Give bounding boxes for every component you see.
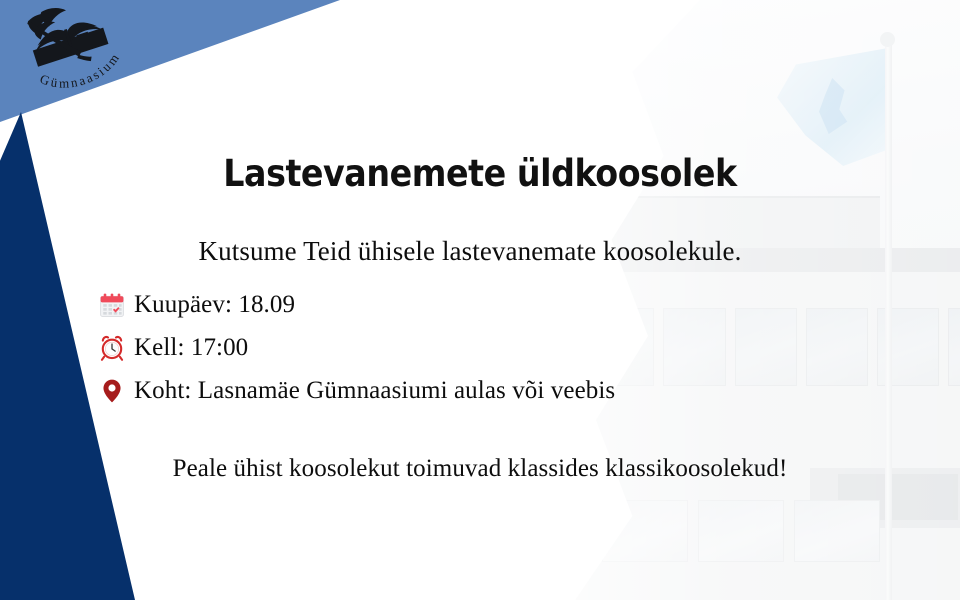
calendar-icon [96,289,128,321]
details-list: Kuupäev: 18.09 Kell: 17:00 [96,283,856,412]
lead-paragraph: Kutsume Teid ühisele lastevanemate kooso… [0,236,940,267]
detail-text-time: Kell: 17:00 [134,334,248,362]
detail-row-time: Kell: 17:00 [96,326,856,369]
alarm-clock-icon-glyph [98,334,126,362]
footnote-text: Peale ühist koosolekut toimuvad klasside… [0,455,960,483]
detail-row-date: Kuupäev: 18.09 [96,283,856,326]
slide-canvas: Gümnaasium Lastevanemete üldkoosolek Kut… [0,0,960,600]
location-pin-icon [96,375,128,407]
detail-row-location: Koht: Lasnamäe Gümnaasiumi aulas või vee… [96,369,856,412]
detail-text-location: Koht: Lasnamäe Gümnaasiumi aulas või vee… [134,377,615,405]
location-pin-icon-glyph [99,378,125,404]
calendar-icon-glyph [98,291,126,319]
slide-content: Lastevanemete üldkoosolek Kutsume Teid ü… [0,0,960,600]
page-title: Lastevanemete üldkoosolek [48,152,912,195]
detail-text-date: Kuupäev: 18.09 [134,291,295,319]
alarm-clock-icon [96,332,128,364]
